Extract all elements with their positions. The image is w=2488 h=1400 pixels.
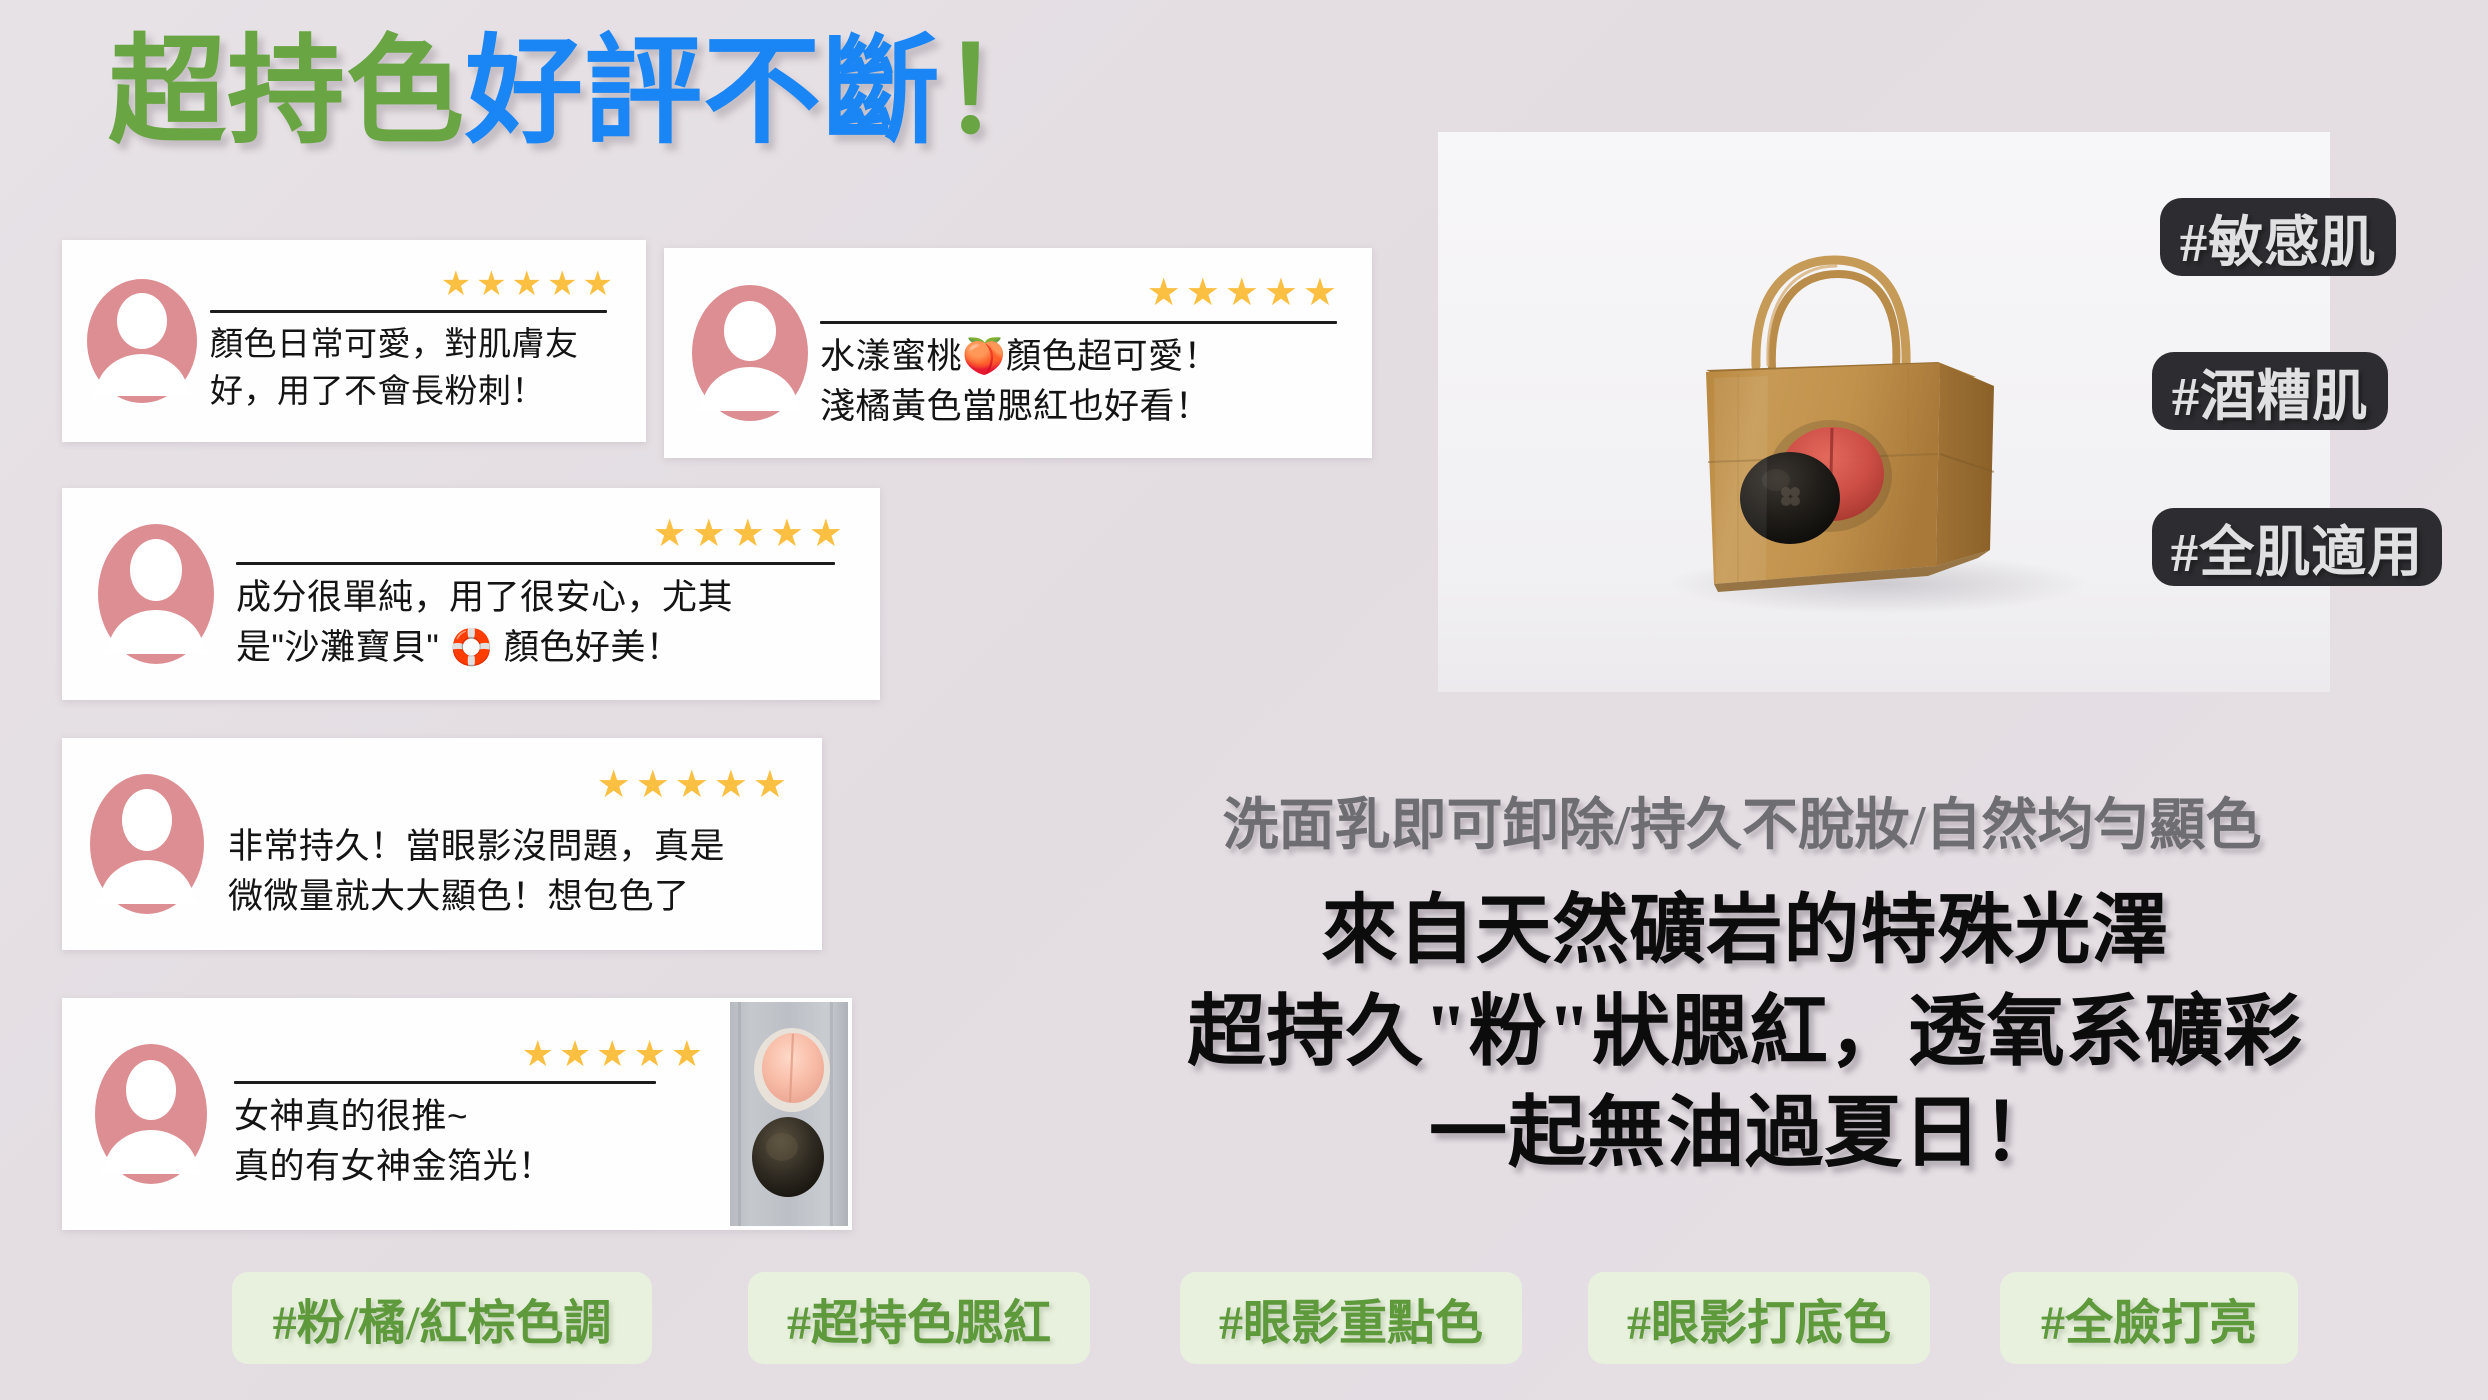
dark-badge-label: #敏感肌 [2180,197,2377,277]
avatar [680,273,820,433]
avatar [80,1030,222,1198]
copy-line-3: 一起無油過夏日！ [1120,1082,2370,1183]
dark-badge-all-skin-types[interactable]: #全肌適用 [2152,508,2442,586]
review-photo [730,1002,848,1226]
user-avatar-icon [80,1030,222,1198]
avatar [74,266,210,416]
star-rating: ★★★★★ [210,267,624,301]
green-tag-long-lasting-blush[interactable]: #超持色腮紅 [748,1272,1090,1364]
review-body: ★★★★★ 顏色日常可愛，對肌膚友 好，用了不會長粉刺！ [210,267,646,415]
blush-compact-photo [730,1002,848,1226]
green-tag-label: #全臉打亮 [2041,1283,2257,1353]
avatar [76,762,218,926]
divider [820,321,1337,324]
review-text: 非常持久！當眼影沒問題，真是 微微量就大大顯色！想包色了 [228,822,798,921]
avatar [84,512,228,676]
title-segment-exclaim: ！ [941,26,1060,158]
review-card[interactable]: ★★★★★ 水漾蜜桃🍑顏色超可愛！ 淺橘黃色當腮紅也好看！ [664,248,1372,458]
copy-line-2: 超持久"粉"狀腮紅，透氧系礦彩 [1120,981,2370,1082]
green-tag-face-highlight[interactable]: #全臉打亮 [2000,1272,2298,1364]
review-card[interactable]: ★★★★★ 顏色日常可愛，對肌膚友 好，用了不會長粉刺！ [62,240,646,442]
divider [210,310,607,313]
user-avatar-icon [680,273,820,433]
review-card[interactable]: ★★★★★ 女神真的很推~ 真的有女神金箔光！ [62,998,852,1230]
green-tag-eyeshadow-base[interactable]: #眼影打底色 [1588,1272,1930,1364]
dark-badge-label: #酒糟肌 [2172,351,2369,431]
user-avatar-icon [84,512,228,676]
title-segment-blue: 好評不斷 [465,26,941,158]
star-rating: ★★★★★ [228,766,798,804]
review-card[interactable]: ★★★★★ 非常持久！當眼影沒問題，真是 微微量就大大顯色！想包色了 [62,738,822,950]
review-text: 成分很單純，用了很安心，尤其 是"沙灘寶貝" 🛟 顏色好美！ [236,573,854,672]
user-avatar-icon [76,762,218,926]
copy-subtitle: 洗面乳即可卸除/持久不脫妝/自然均勻顯色 [1152,780,2332,861]
user-avatar-icon [74,266,210,416]
green-tag-pink-orange-redbrown[interactable]: #粉/橘/紅棕色調 [232,1272,652,1364]
review-body: ★★★★★ 水漾蜜桃🍑顏色超可愛！ 淺橘黃色當腮紅也好看！ [820,274,1372,431]
green-tag-label: #粉/橘/紅棕色調 [273,1283,612,1353]
review-text: 水漾蜜桃🍑顏色超可愛！ 淺橘黃色當腮紅也好看！ [820,332,1348,431]
star-rating: ★★★★★ [234,1036,714,1072]
page-title: 超持色好評不斷！ [108,22,1060,164]
green-tag-eyeshadow-accent[interactable]: #眼影重點色 [1180,1272,1522,1364]
dark-badge-sensitive-skin[interactable]: #敏感肌 [2160,198,2396,276]
green-tag-label: #眼影重點色 [1219,1283,1483,1353]
copy-line-1: 來自天然礦岩的特殊光澤 [1120,882,2370,981]
review-body: ★★★★★ 非常持久！當眼影沒問題，真是 微微量就大大顯色！想包色了 [218,766,822,921]
dark-badge-label: #全肌適用 [2171,507,2424,587]
dark-badge-rosacea-skin[interactable]: #酒糟肌 [2152,352,2388,430]
star-rating: ★★★★★ [236,515,854,553]
title-segment-green: 超持色 [108,26,465,158]
copy-main: 來自天然礦岩的特殊光澤 超持久"粉"狀腮紅，透氧系礦彩 一起無油過夏日！ [1120,882,2370,1184]
review-card[interactable]: ★★★★★ 成分很單純，用了很安心，尤其 是"沙灘寶貝" 🛟 顏色好美！ [62,488,880,700]
review-text: 顏色日常可愛，對肌膚友 好，用了不會長粉刺！ [210,321,624,415]
divider [236,562,835,565]
divider [234,1081,656,1084]
green-tag-label: #超持色腮紅 [787,1283,1051,1353]
review-body: ★★★★★ 女神真的很推~ 真的有女神金箔光！ [222,1036,730,1191]
star-rating: ★★★★★ [820,274,1348,312]
review-text: 女神真的很推~ 真的有女神金箔光！ [234,1092,714,1191]
review-body: ★★★★★ 成分很單純，用了很安心，尤其 是"沙灘寶貝" 🛟 顏色好美！ [228,515,880,672]
green-tag-label: #眼影打底色 [1627,1283,1891,1353]
